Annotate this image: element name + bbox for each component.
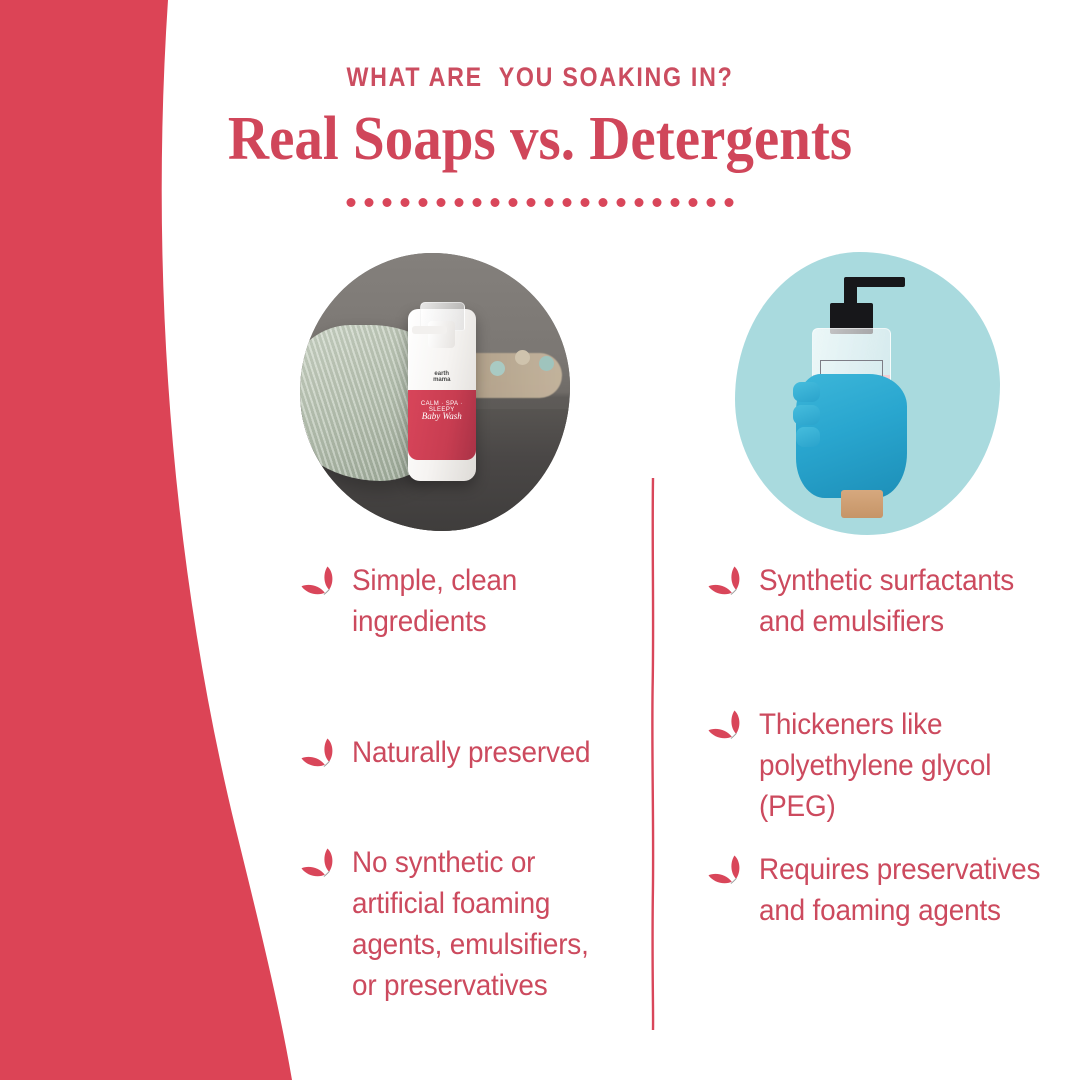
bead <box>515 350 530 365</box>
divider-dot <box>383 198 392 207</box>
bottle-neck <box>428 321 455 349</box>
wrist <box>841 490 883 518</box>
divider-dot <box>635 198 644 207</box>
leaf-sprig-icon <box>300 736 342 776</box>
divider-dot <box>707 198 716 207</box>
divider-dot <box>347 198 356 207</box>
divider-dot <box>401 198 410 207</box>
divider-dot <box>473 198 482 207</box>
divider-dot <box>599 198 608 207</box>
divider-dot <box>491 198 500 207</box>
bottle-label: CALM · SPA · SLEEPY Baby Wash <box>408 390 476 461</box>
list-item: Synthetic surfactants and emulsifiers <box>707 560 1063 642</box>
photo-detergent: HAND SOAP <box>735 252 1000 535</box>
page-title: Real Soaps vs. Detergents <box>43 104 1037 175</box>
leaf-sprig-icon <box>707 708 749 748</box>
photo-real-soap: earth mama CALM · SPA · SLEEPY Baby Wash <box>300 253 570 531</box>
leaf-sprig-icon <box>300 564 342 604</box>
list-item: Requires preservatives and foaming agent… <box>707 849 1063 931</box>
list-item: No synthetic or artificial foaming agent… <box>300 842 630 1006</box>
divider-dot <box>689 198 698 207</box>
divider-dot <box>563 198 572 207</box>
glove-finger <box>796 427 820 447</box>
divider-dot <box>509 198 518 207</box>
glove-finger <box>793 405 820 425</box>
divider-dot <box>455 198 464 207</box>
pump-arm <box>849 277 905 286</box>
list-item-label: Simple, clean ingredients <box>352 560 611 642</box>
divider-dot <box>671 198 680 207</box>
column-divider <box>651 478 655 1030</box>
label-product-name: Baby Wash <box>408 411 476 421</box>
divider-dot <box>617 198 626 207</box>
brand-line-2: mama <box>408 377 476 383</box>
divider-dot <box>419 198 428 207</box>
list-item-label: Requires preservatives and foaming agent… <box>759 849 1042 931</box>
infographic-canvas: WHAT ARE YOU SOAKING IN? Real Soaps vs. … <box>0 0 1080 1080</box>
leaf-sprig-icon <box>707 564 749 604</box>
dotted-divider <box>347 198 734 207</box>
list-item-label: Thickeners like polyethylene glycol (PEG… <box>759 704 1042 827</box>
divider-dot <box>653 198 662 207</box>
divider-dot <box>365 198 374 207</box>
foam-pump-nozzle <box>412 326 447 335</box>
column-detergents: Synthetic surfactants and emulsifiers Th… <box>707 560 1063 931</box>
list-item-label: Synthetic surfactants and emulsifiers <box>759 560 1042 642</box>
eyebrow-text: WHAT ARE YOU SOAKING IN? <box>76 62 1005 93</box>
divider-dot <box>725 198 734 207</box>
divider-dot <box>437 198 446 207</box>
divider-dot <box>545 198 554 207</box>
list-item-label: Naturally preserved <box>352 732 590 773</box>
list-item: Naturally preserved <box>300 732 630 776</box>
leaf-sprig-icon <box>300 846 342 886</box>
baby-wash-bottle: earth mama CALM · SPA · SLEEPY Baby Wash <box>408 309 476 481</box>
list-item: Simple, clean ingredients <box>300 560 630 642</box>
bead <box>539 356 554 371</box>
list-item-label: No synthetic or artificial foaming agent… <box>352 842 611 1006</box>
divider-dot <box>581 198 590 207</box>
divider-dot <box>527 198 536 207</box>
list-item: Thickeners like polyethylene glycol (PEG… <box>707 704 1063 827</box>
leaf-sprig-icon <box>707 853 749 893</box>
column-real-soaps: Simple, clean ingredients Naturally pres… <box>300 560 630 1006</box>
brand-logo: earth mama <box>408 371 476 383</box>
glove-finger <box>793 382 820 402</box>
